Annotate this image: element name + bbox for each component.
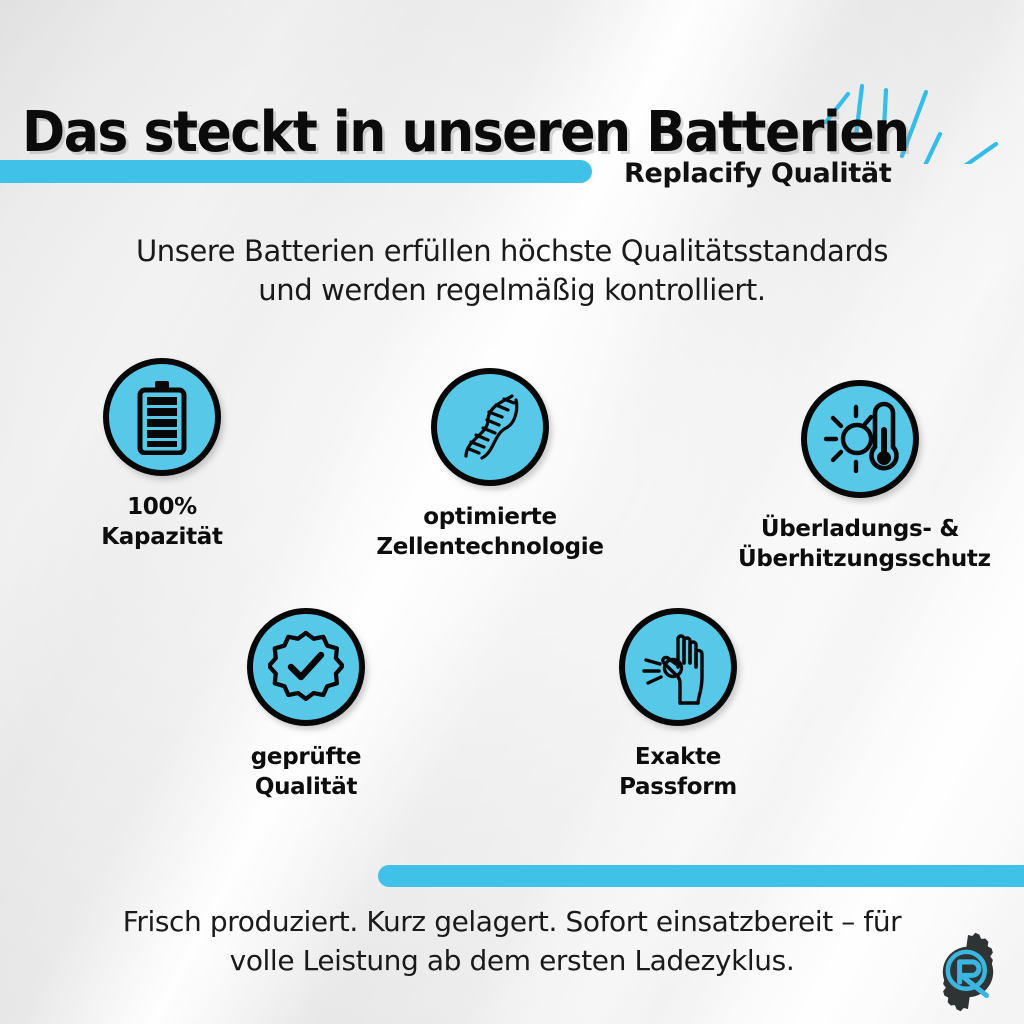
feature-label-line-2: Kapazität (42, 522, 282, 552)
feature-icon-circle (801, 380, 919, 498)
footer-paragraph: Frisch produziert. Kurz gelagert. Sofort… (0, 903, 1024, 980)
subtitle: Replacify Qualität (624, 158, 891, 189)
ok-hand-icon (640, 627, 716, 707)
feature-label-line-2: Qualität (186, 772, 426, 802)
page-title: Das steckt in unseren Batterien (22, 100, 909, 165)
feature-label: 100% Kapazität (42, 492, 282, 553)
feature-label: Exakte Passform (558, 742, 798, 803)
dna-helix-icon (454, 390, 526, 464)
feature-tested-quality: geprüfte Qualität (186, 608, 426, 803)
feature-label-line-1: geprüfte (186, 742, 426, 772)
feature-capacity: 100% Kapazität (42, 358, 282, 553)
footer-line-1: Frisch produziert. Kurz gelagert. Sofort… (0, 903, 1024, 942)
feature-label-line-1: optimierte (368, 502, 612, 532)
feature-label: Überladungs- & Überhitzungsschutz (738, 514, 982, 575)
feature-label-line-1: 100% (42, 492, 282, 522)
feature-label-line-2: Passform (558, 772, 798, 802)
feature-exact-fit: Exakte Passform (558, 608, 798, 803)
feature-icon-circle (247, 608, 365, 726)
feature-icon-circle (103, 358, 221, 476)
feature-label-line-2: Überhitzungsschutz (738, 544, 982, 574)
verified-badge-check-icon (268, 629, 344, 705)
feature-label: optimierte Zellentechnologie (368, 502, 612, 563)
accent-bar-top (0, 160, 592, 183)
replacify-gear-r-logo (926, 930, 1010, 1014)
feature-label-line-2: Zellentechnologie (368, 532, 612, 562)
battery-full-icon (131, 379, 193, 455)
accent-bar-bottom (378, 865, 1024, 887)
sun-thermometer-icon (821, 401, 899, 477)
feature-icon-circle (431, 368, 549, 486)
feature-label-line-1: Überladungs- & (738, 514, 982, 544)
intro-line-2: und werden regelmäßig kontrolliert. (0, 271, 1024, 310)
infographic-poster: Das steckt in unseren Batterien Replacif… (0, 0, 1024, 1024)
feature-overcharge-protection: Überladungs- & Überhitzungsschutz (738, 380, 982, 575)
feature-label: geprüfte Qualität (186, 742, 426, 803)
feature-cell-technology: optimierte Zellentechnologie (368, 368, 612, 563)
footer-line-2: volle Leistung ab dem ersten Ladezyklus. (0, 942, 1024, 981)
feature-icon-circle (619, 608, 737, 726)
feature-label-line-1: Exakte (558, 742, 798, 772)
intro-line-1: Unsere Batterien erfüllen höchste Qualit… (0, 232, 1024, 271)
intro-paragraph: Unsere Batterien erfüllen höchste Qualit… (0, 232, 1024, 311)
